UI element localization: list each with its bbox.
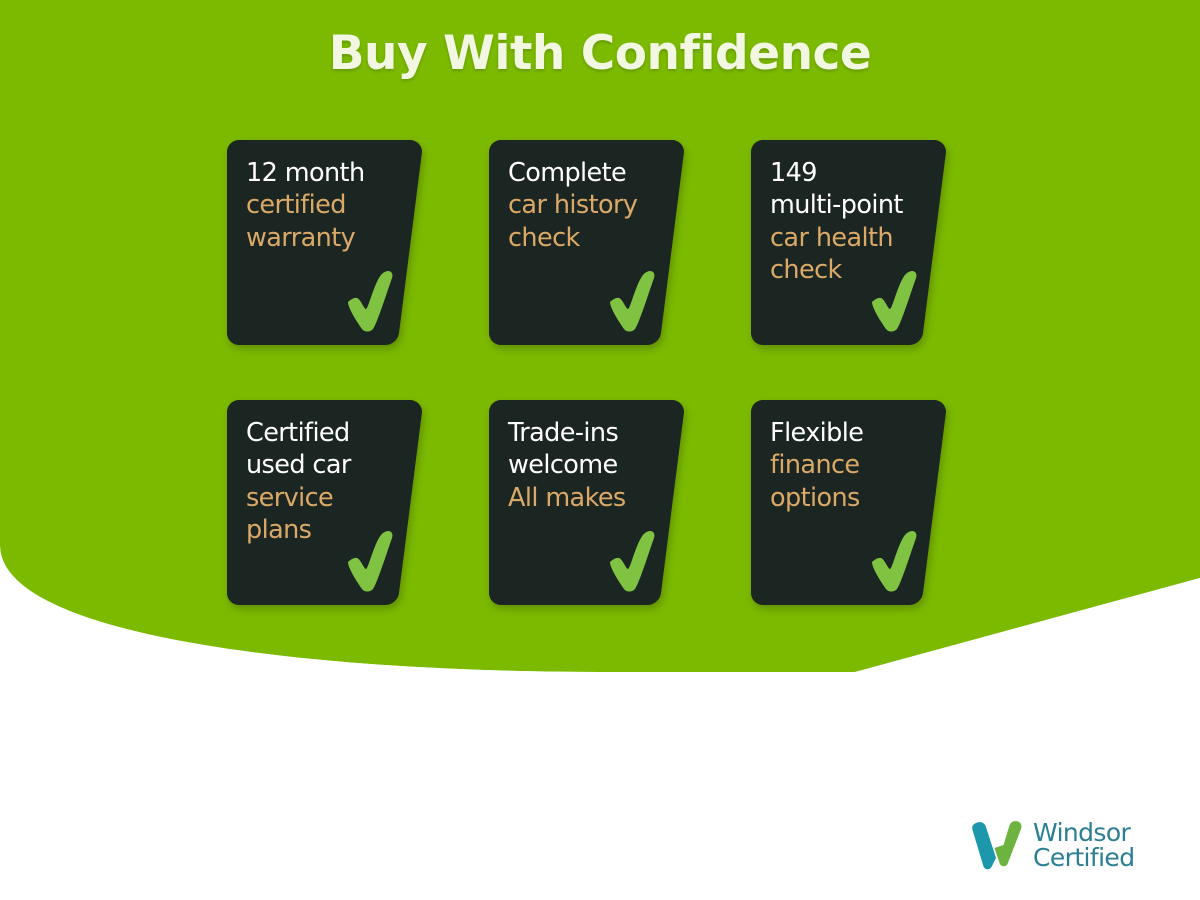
logo-wordmark: Windsor Certified [1033, 820, 1134, 871]
page-title: Buy With Confidence [0, 26, 1200, 81]
poster-canvas: Buy With Confidence 12 month certified w… [0, 0, 1200, 900]
green-check-tick-icon [606, 269, 658, 333]
card-line: Certified [246, 417, 408, 449]
green-check-tick-icon [344, 529, 396, 593]
card-line: All makes [508, 482, 670, 514]
card-text-block: 149 multi-point car health check [770, 157, 932, 286]
logo-line-2: Certified [1033, 845, 1134, 871]
card-line: certified [246, 189, 408, 221]
card-line: finance [770, 449, 932, 481]
windsor-w-mark-icon [972, 820, 1024, 870]
card-line: options [770, 482, 932, 514]
confidence-card[interactable]: Certified used car service plans [227, 400, 422, 605]
card-line: used car [246, 449, 408, 481]
confidence-card[interactable]: 12 month certified warranty [227, 140, 422, 345]
card-line: Complete [508, 157, 670, 189]
card-text-block: Trade-ins welcome All makes [508, 417, 670, 514]
card-line: car health [770, 222, 932, 254]
green-check-tick-icon [606, 529, 658, 593]
card-line: check [508, 222, 670, 254]
confidence-card[interactable]: Flexible finance options [751, 400, 946, 605]
card-line: warranty [246, 222, 408, 254]
card-line: multi-point [770, 189, 932, 221]
card-text-block: 12 month certified warranty [246, 157, 408, 254]
card-line: 149 [770, 157, 932, 189]
card-line: welcome [508, 449, 670, 481]
confidence-card-grid: 12 month certified warranty Complete car… [227, 140, 977, 605]
card-text-block: Certified used car service plans [246, 417, 408, 546]
green-check-tick-icon [868, 269, 920, 333]
card-line: 12 month [246, 157, 408, 189]
card-text-block: Complete car history check [508, 157, 670, 254]
confidence-card[interactable]: Complete car history check [489, 140, 684, 345]
card-text-block: Flexible finance options [770, 417, 932, 514]
green-check-tick-icon [344, 269, 396, 333]
card-line: service [246, 482, 408, 514]
confidence-card[interactable]: 149 multi-point car health check [751, 140, 946, 345]
card-line: Trade-ins [508, 417, 670, 449]
confidence-card[interactable]: Trade-ins welcome All makes [489, 400, 684, 605]
green-check-tick-icon [868, 529, 920, 593]
card-line: Flexible [770, 417, 932, 449]
windsor-certified-logo[interactable]: Windsor Certified [972, 812, 1162, 878]
card-line: car history [508, 189, 670, 221]
